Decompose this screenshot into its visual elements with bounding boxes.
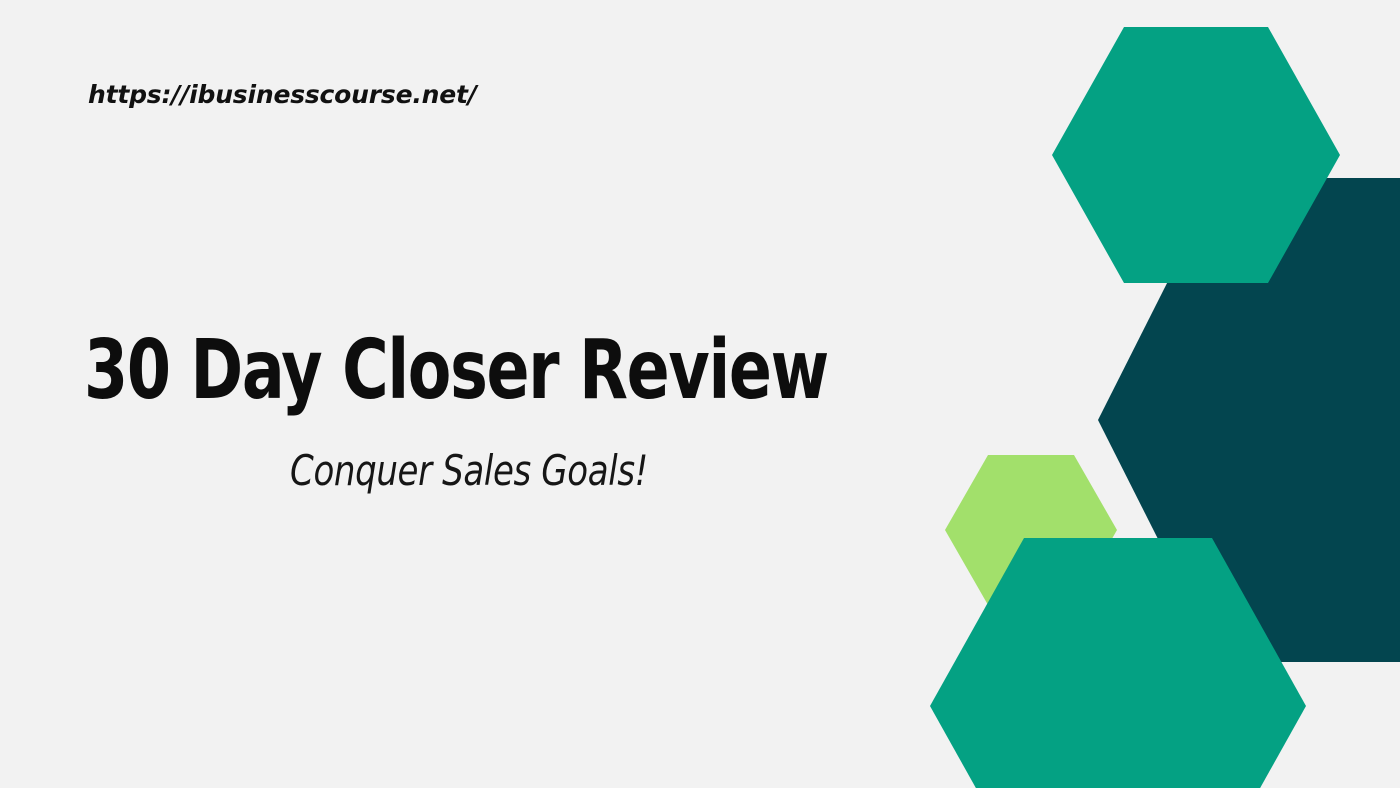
title-slide: https://ibusinesscourse.net/ 30 Day Clos… — [0, 0, 1400, 788]
hexagon-top-green-icon — [1052, 27, 1340, 283]
hexagon-dark-teal-icon — [1098, 178, 1400, 662]
headline-block: 30 Day Closer Review Conquer Sales Goals… — [84, 330, 854, 495]
source-url-text: https://ibusinesscourse.net/ — [88, 80, 477, 109]
hexagon-light-green-icon — [945, 455, 1117, 605]
hexagon-bottom-green-icon — [930, 538, 1306, 788]
page-title: 30 Day Closer Review — [84, 330, 746, 412]
page-subtitle: Conquer Sales Goals! — [123, 412, 816, 495]
